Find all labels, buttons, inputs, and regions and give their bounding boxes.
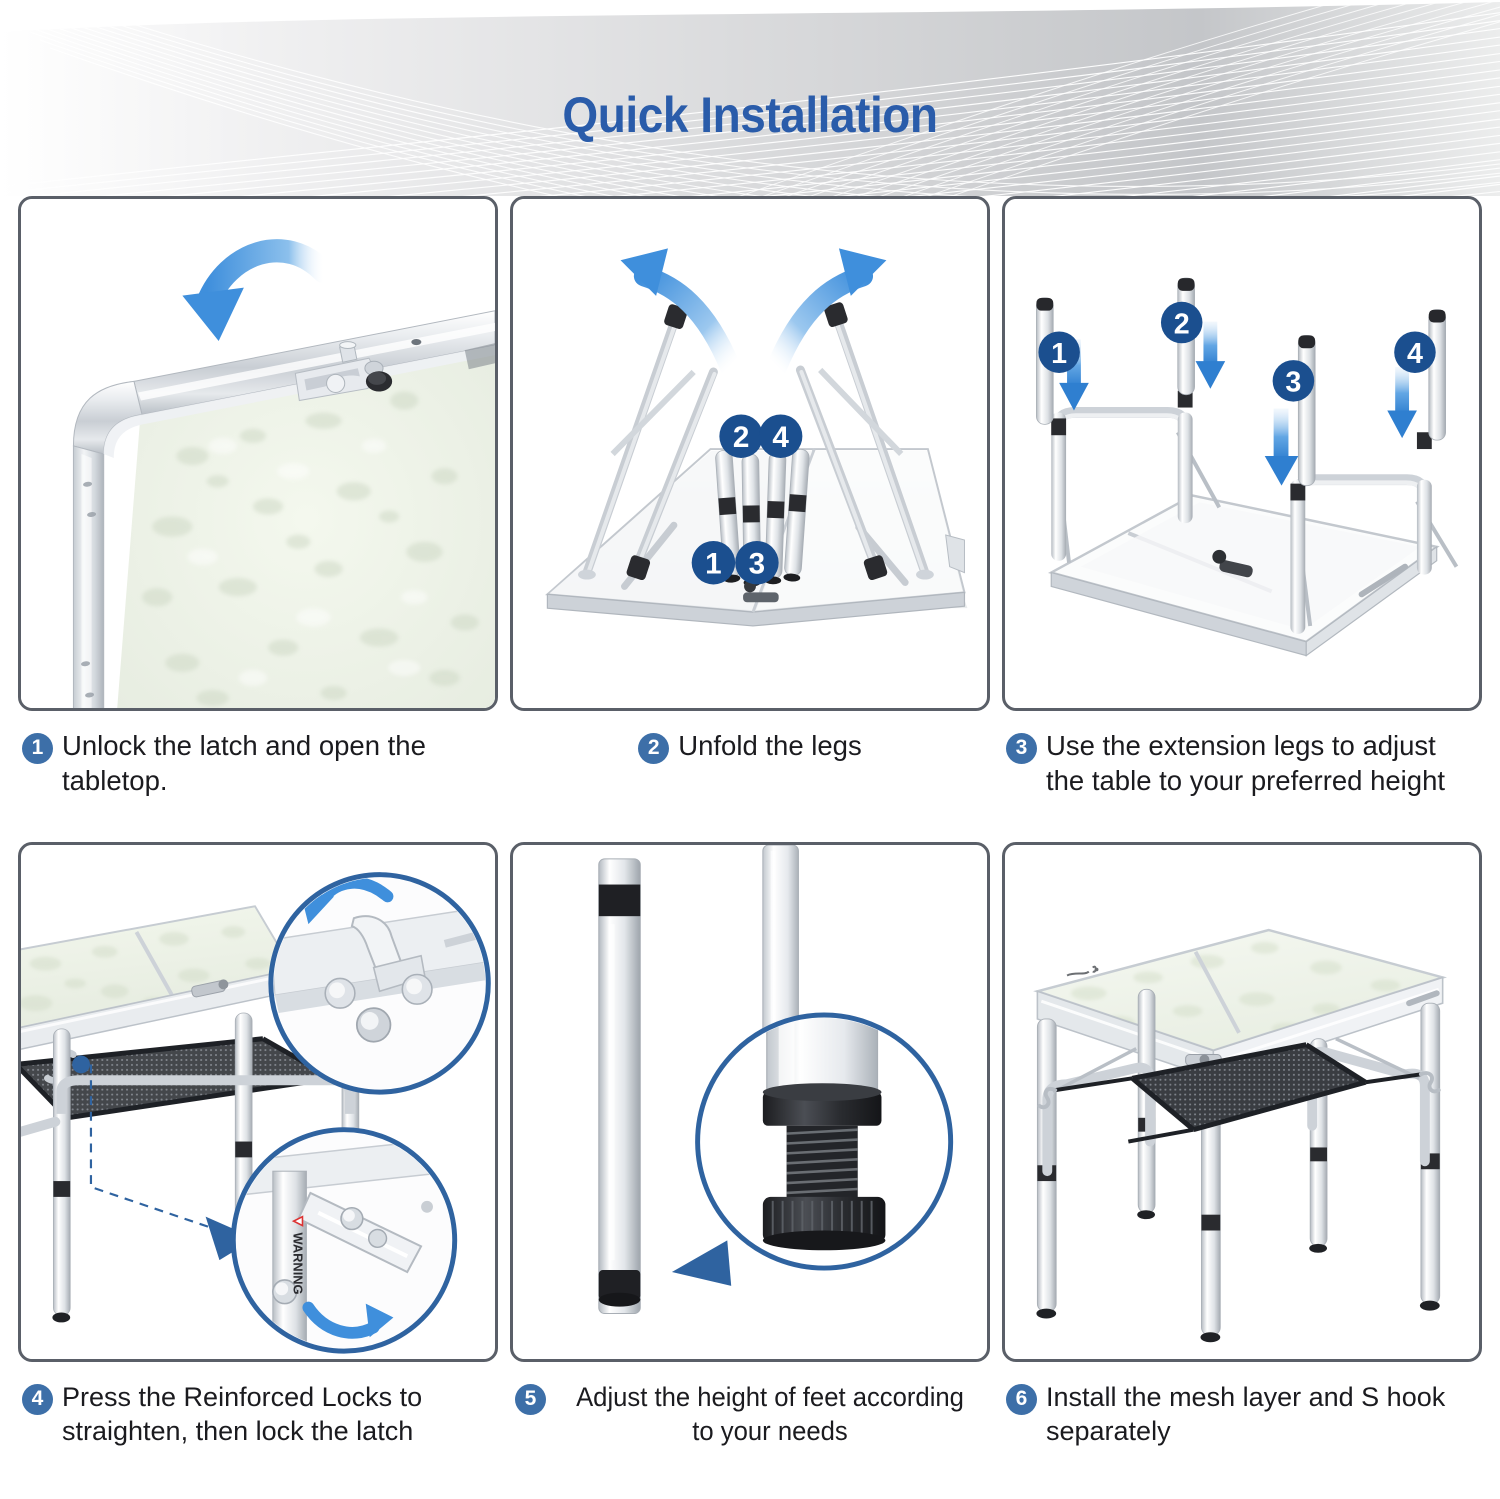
warning-label: WARNING <box>291 1232 306 1294</box>
step-cell-4: WARNING 4 Press the Reinforced Locks to … <box>18 842 498 1499</box>
step-number-badge-6: 6 <box>1006 1384 1037 1415</box>
adjustable-foot-callout-illustration <box>513 845 987 1359</box>
folded-table-unfolding-legs-illustration: 2 4 1 3 <box>513 199 987 708</box>
step-text-4: Press the Reinforced Locks to straighten… <box>62 1380 492 1448</box>
table-corner-latch-illustration <box>21 199 495 708</box>
inline-badge-1: 1 <box>1038 331 1080 373</box>
step-number-badge-1: 1 <box>22 733 53 764</box>
step-text-1: Unlock the latch and open the tabletop. <box>62 729 492 798</box>
step-image-panel-4: WARNING <box>18 842 498 1362</box>
step-image-panel-6 <box>1002 842 1482 1362</box>
step-number-badge-2: 2 <box>638 733 669 764</box>
step-caption-5: 5 Adjust the height of feet according to… <box>510 1362 990 1448</box>
svg-text:2: 2 <box>1174 308 1190 340</box>
step-caption-6: 6 Install the mesh layer and S hook sepa… <box>1002 1362 1482 1448</box>
svg-text:3: 3 <box>749 548 766 581</box>
svg-text:2: 2 <box>733 421 750 454</box>
step-cell-6: 6 Install the mesh layer and S hook sepa… <box>1002 842 1482 1499</box>
step-cell-3: 1 2 3 4 3 <box>1002 196 1482 842</box>
svg-text:4: 4 <box>1407 338 1423 370</box>
step-text-3: Use the extension legs to adjust the tab… <box>1046 729 1476 798</box>
svg-text:1: 1 <box>705 548 722 581</box>
step-number-badge-5: 5 <box>515 1384 546 1415</box>
steps-grid: 1 Unlock the latch and open the tabletop… <box>0 196 1500 1499</box>
step-text-6: Install the mesh layer and S hook separa… <box>1046 1380 1476 1448</box>
step-cell-5: 5 Adjust the height of feet according to… <box>510 842 990 1499</box>
infographic-page: Quick Installation <box>0 0 1500 1499</box>
step-caption-4: 4 Press the Reinforced Locks to straight… <box>18 1362 498 1448</box>
step-image-panel-5 <box>510 842 990 1362</box>
step-caption-1: 1 Unlock the latch and open the tabletop… <box>18 711 498 798</box>
step-text-2: Unfold the legs <box>678 729 861 764</box>
svg-text:3: 3 <box>1285 367 1301 399</box>
inline-badge-2: 2 <box>1161 302 1203 344</box>
inline-badge-1: 1 <box>692 541 735 584</box>
reinforced-lock-callouts-illustration: WARNING <box>21 845 495 1359</box>
step-text-5: Adjust the height of feet according to y… <box>566 1380 975 1448</box>
inline-badge-4: 4 <box>1394 331 1436 373</box>
step-number-badge-3: 3 <box>1006 733 1037 764</box>
step-image-panel-2: 2 4 1 3 <box>510 196 990 711</box>
step-cell-1: 1 Unlock the latch and open the tabletop… <box>18 196 498 842</box>
inline-badge-4: 4 <box>759 414 802 457</box>
inline-badge-2: 2 <box>719 414 762 457</box>
page-title: Quick Installation <box>60 86 1440 144</box>
inline-badge-3: 3 <box>735 541 778 584</box>
extension-leg-3 <box>1298 335 1315 485</box>
step-cell-2: 2 4 1 3 2 <box>510 196 990 842</box>
inverted-table-extension-legs-illustration: 1 2 3 4 <box>1005 199 1479 708</box>
assembled-table-mesh-shelf-illustration <box>1005 845 1479 1359</box>
table-leg-left <box>599 859 641 1314</box>
header-banner: Quick Installation <box>0 0 1500 196</box>
inline-badge-3: 3 <box>1273 360 1315 402</box>
step-number-badge-4: 4 <box>22 1384 53 1415</box>
step-image-panel-1 <box>18 196 498 711</box>
svg-text:1: 1 <box>1051 338 1067 370</box>
extension-leg-4 <box>1429 310 1446 440</box>
magnified-callout-latch <box>269 875 490 1092</box>
step-caption-2: 2 Unfold the legs <box>510 711 990 764</box>
step-caption-3: 3 Use the extension legs to adjust the t… <box>1002 711 1482 798</box>
svg-text:4: 4 <box>772 421 789 454</box>
step-image-panel-3: 1 2 3 4 <box>1002 196 1482 711</box>
